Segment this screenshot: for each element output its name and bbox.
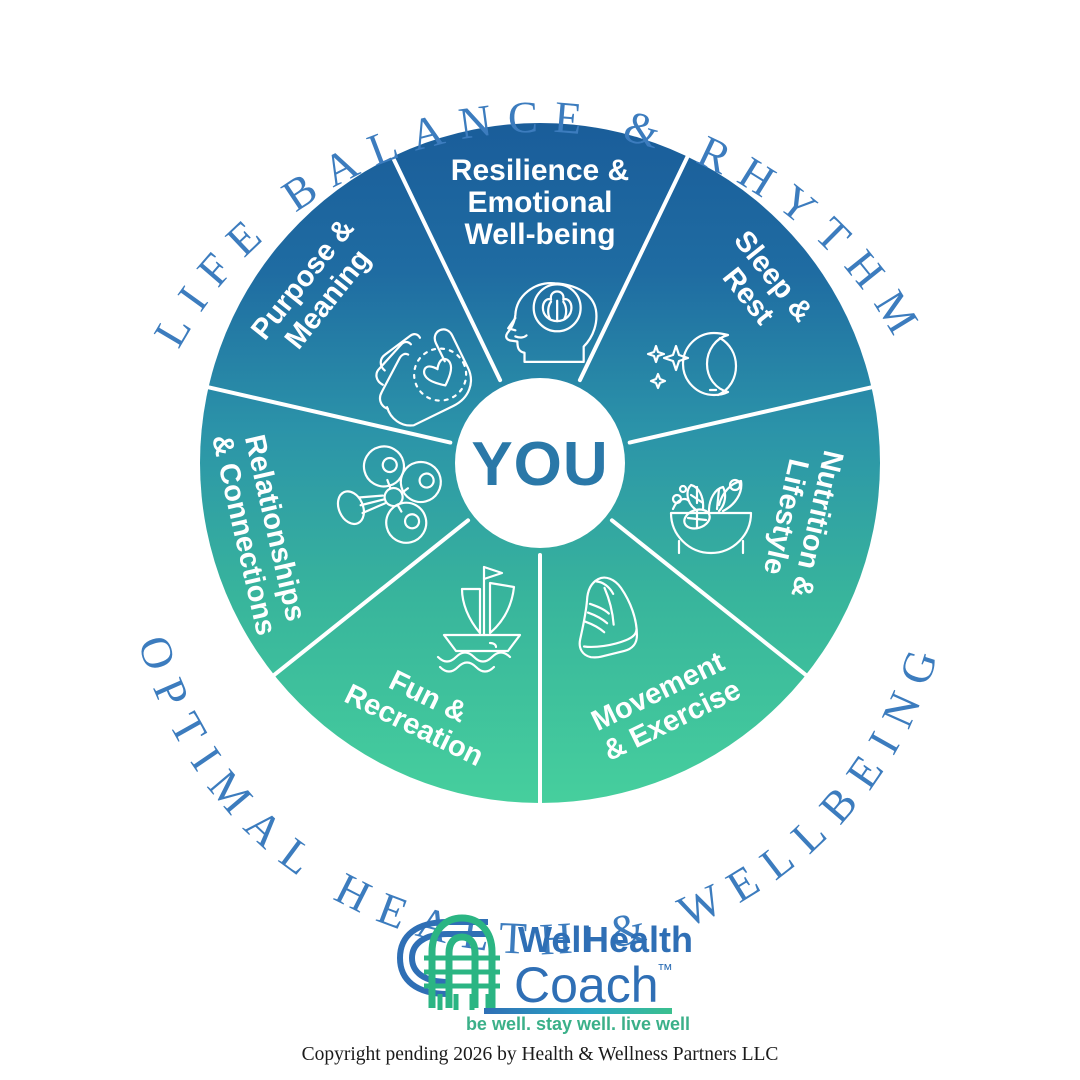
center-hub[interactable]: YOU: [455, 378, 625, 548]
logo-trademark: ™: [657, 962, 673, 979]
resilience-label-group: Resilience & Emotional Well-being: [451, 154, 629, 251]
wellness-wheel-infographic: YOU Resilience & Emotional Well-being Sl…: [0, 0, 1080, 1080]
logo-name-health: Health: [583, 919, 693, 960]
center-label: YOU: [471, 430, 608, 499]
logo-name-well: Well: [518, 919, 591, 960]
segment-label-line: Well-being: [464, 218, 615, 251]
wellhealth-coach-logo[interactable]: Well Health Coach ™ be well. stay well. …: [390, 910, 693, 1034]
logo-name-coach: Coach: [514, 957, 659, 1013]
segment-label-line: Emotional: [467, 186, 612, 219]
copyright-notice: Copyright pending 2026 by Health & Welln…: [302, 1044, 779, 1065]
segment-label-line: Resilience &: [451, 154, 629, 187]
logo-tagline: be well. stay well. live well: [466, 1014, 690, 1034]
